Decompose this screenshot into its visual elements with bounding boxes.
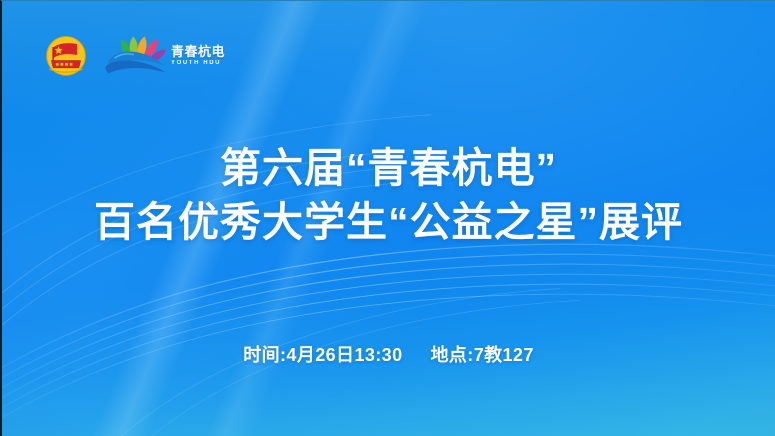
event-poster: 青春杭电 YOUTH HDU 第六届“青春杭电” 百名优秀大学生“公益之星”展评…	[0, 0, 775, 436]
title-line-1: 第六届“青春杭电”	[2, 141, 775, 195]
youth-hdu-logo-text-cn: 青春杭电	[171, 45, 225, 58]
youth-hdu-logo-text-en: YOUTH HDU	[171, 60, 225, 66]
event-time: 时间:4月26日13:30	[243, 341, 402, 367]
logo-bar: 青春杭电 YOUTH HDU	[43, 32, 225, 78]
event-details: 时间:4月26日13:30 地点:7教127	[2, 341, 775, 367]
event-details-line: 时间:4月26日13:30 地点:7教127	[243, 341, 534, 367]
title-line-2: 百名优秀大学生“公益之星”展评	[2, 195, 775, 249]
youth-hdu-petal-mark-icon	[105, 33, 167, 77]
event-place: 地点:7教127	[431, 341, 534, 367]
youth-hdu-logo: 青春杭电 YOUTH HDU	[105, 33, 225, 77]
poster-title: 第六届“青春杭电” 百名优秀大学生“公益之星”展评	[2, 141, 775, 249]
communist-youth-league-emblem-icon	[43, 32, 89, 78]
